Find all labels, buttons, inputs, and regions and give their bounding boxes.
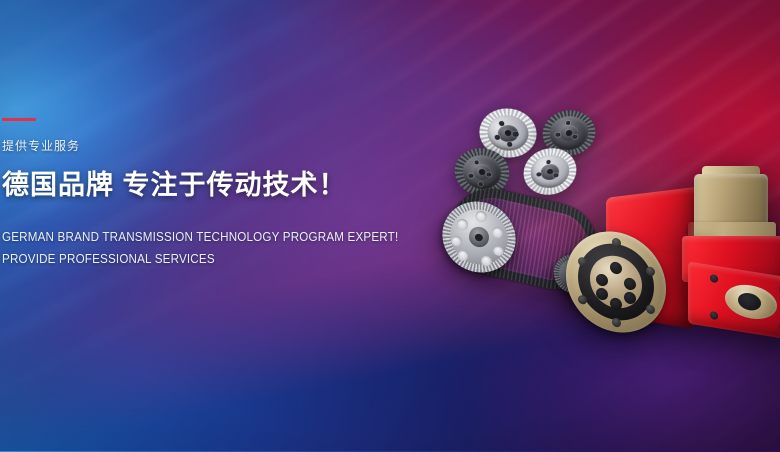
banner-headline: 德国品牌 专注于传动技术！: [2, 170, 422, 201]
banner-english-line-2: PROVIDE PROFESSIONAL SERVICES: [2, 249, 393, 271]
promo-banner: 提供专业服务 德国品牌 专注于传动技术！ GERMAN BRAND TRANSM…: [0, 0, 780, 452]
banner-kicker: 提供专业服务: [2, 137, 422, 154]
banner-english-line-1: GERMAN BRAND TRANSMISSION TECHNOLOGY PRO…: [2, 227, 393, 249]
accent-rule: [2, 118, 36, 121]
banner-copy: 提供专业服务 德国品牌 专注于传动技术！ GERMAN BRAND TRANSM…: [2, 118, 422, 270]
